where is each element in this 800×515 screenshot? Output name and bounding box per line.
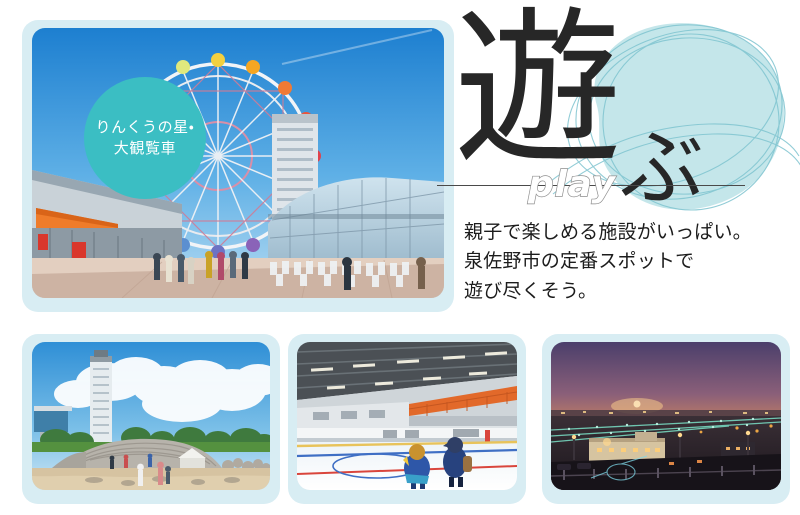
card-ferris-wheel[interactable]: りんくうの星・ 大観覧車 [22,20,454,312]
card-sky-view[interactable]: 関空展望ホール スカイビュー [542,334,790,504]
description-line-1: 親子で楽しめる施設がいっぱい。 [464,218,794,247]
photo-ice-arena [297,342,517,490]
photo-rinku-park [32,342,270,490]
photo-sky-view [551,342,781,490]
description-text: 親子で楽しめる施設がいっぱい。 泉佐野市の定番スポットで 遊び尽くそう。 [464,218,794,306]
headline-romaji: play [528,164,616,205]
promo-banner: 遊 ぶ play 親子で楽しめる施設がいっぱい。 泉佐野市の定番スポットで 遊び… [0,0,800,515]
badge-ferris-line-1: りんくうの星・ [95,117,194,138]
badge-ferris-line-2: 大観覧車 [114,138,176,159]
headline-kana: ぶ [620,126,704,210]
card-rinku-park[interactable]: りんくう 公園 [22,334,280,504]
description-line-2: 泉佐野市の定番スポットで [464,247,794,276]
badge-ferris-wheel[interactable]: りんくうの星・ 大観覧車 [84,77,206,199]
headline-kanji: 遊 [454,6,622,174]
headline-group: 遊 ぶ play [432,14,792,214]
description-line-3: 遊び尽くそう。 [464,277,794,306]
card-ice-arena[interactable]: 関空アイス アリーナ [288,334,526,504]
